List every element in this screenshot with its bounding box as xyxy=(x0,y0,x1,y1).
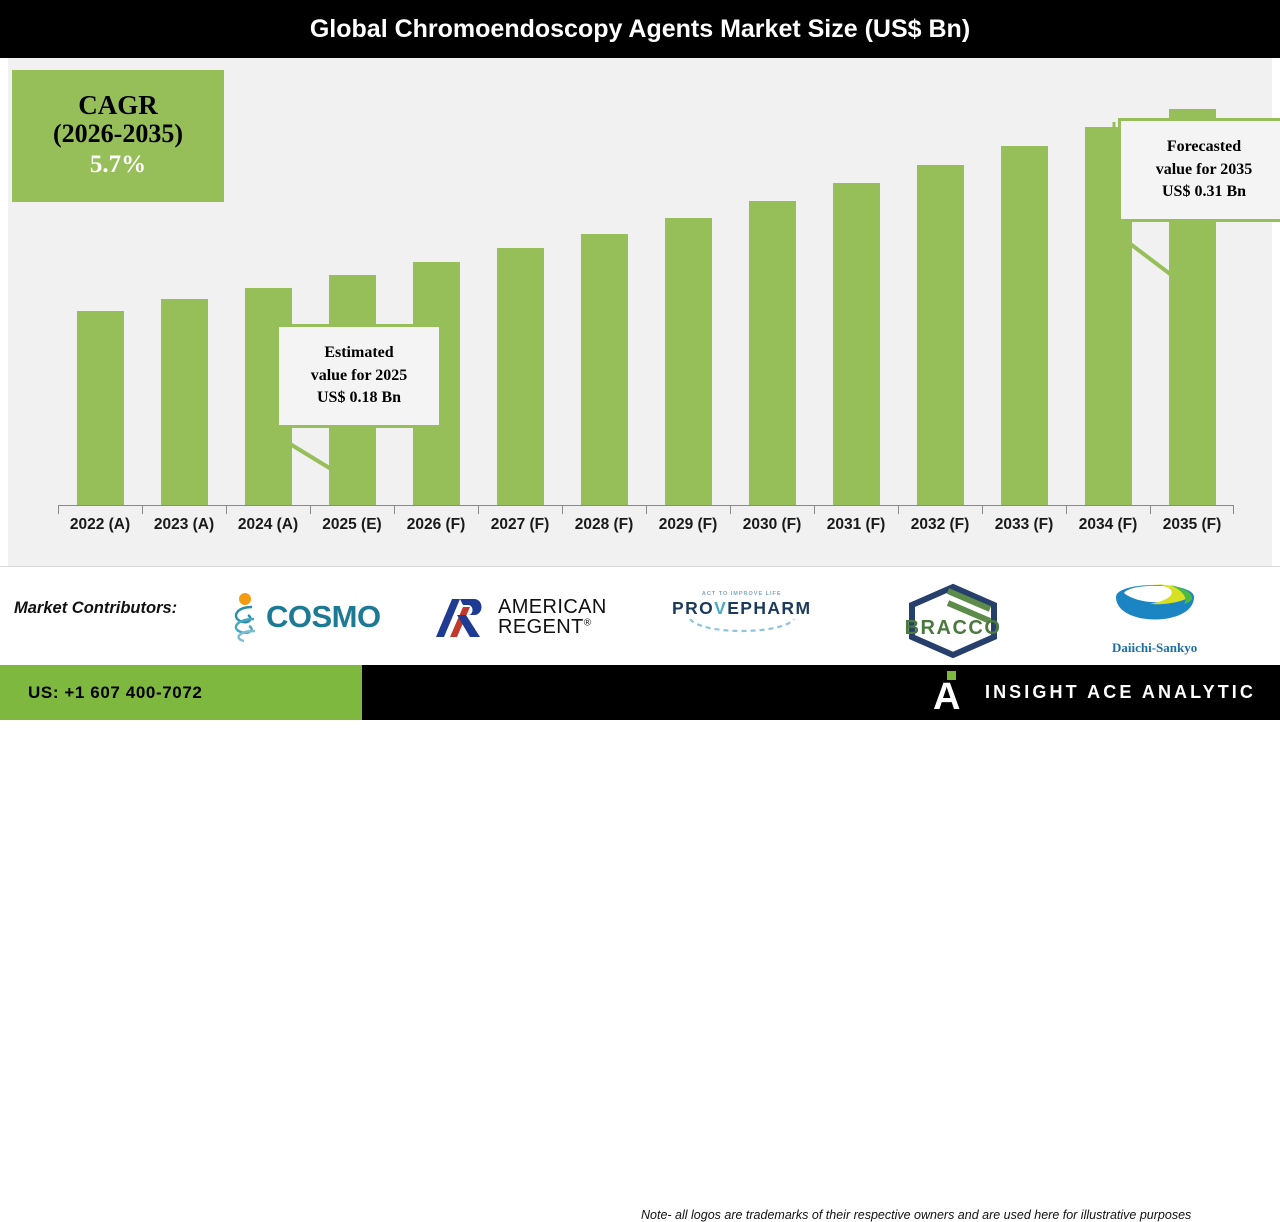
callout-line-2: value for 2025 xyxy=(311,365,408,388)
daiichi-sankyo-mark-icon xyxy=(1114,581,1196,639)
x-label-2024: 2024 (A) xyxy=(226,516,310,544)
x-label-2032: 2032 (F) xyxy=(898,516,982,544)
x-tick xyxy=(1066,505,1150,514)
x-tick xyxy=(1150,505,1234,514)
provepharm-logo: ACT TO IMPROVE LIFE PROVEPHARM xyxy=(672,591,811,635)
bar-cell xyxy=(982,58,1066,505)
bar-2032[interactable] xyxy=(917,165,964,505)
callout-line-3: US$ 0.31 Bn xyxy=(1162,181,1246,204)
x-label-2022: 2022 (A) xyxy=(58,516,142,544)
x-axis-ticks xyxy=(58,505,1234,514)
x-label-2034: 2034 (F) xyxy=(1066,516,1150,544)
x-label-2028: 2028 (F) xyxy=(562,516,646,544)
chart-panel: CAGR (2026-2035) 5.7% 2022 (A)2023 (A)20… xyxy=(8,58,1272,566)
bar-cell xyxy=(898,58,982,505)
callout-estimated-2025: Estimated value for 2025 US$ 0.18 Bn xyxy=(244,322,444,474)
bar-2029[interactable] xyxy=(665,218,712,505)
american-regent-wordmark: AMERICAN REGENT® xyxy=(498,597,607,638)
bar-cell xyxy=(646,58,730,505)
bar-cell xyxy=(730,58,814,505)
bar-2022[interactable] xyxy=(77,311,124,505)
provepharm-arc-icon xyxy=(682,619,802,635)
bracco-wordmark: BRACCO xyxy=(898,617,1008,640)
infographic-page: Global Chromoendoscopy Agents Market Siz… xyxy=(0,0,1280,720)
x-label-2025: 2025 (E) xyxy=(310,516,394,544)
brand-block: A INSIGHT ACE ANALYTIC xyxy=(933,665,1256,720)
cosmo-wordmark: COSMO xyxy=(266,599,381,635)
x-tick xyxy=(982,505,1066,514)
cosmo-mark-icon xyxy=(228,591,262,643)
plot-area: 2022 (A)2023 (A)2024 (A)2025 (E)2026 (F)… xyxy=(48,58,1248,566)
bar-cell xyxy=(142,58,226,505)
footer-phone[interactable]: US: +1 607 400-7072 xyxy=(28,683,202,703)
callout-forecasted-2035: Forecasted value for 2035 US$ 0.31 Bn xyxy=(1086,116,1280,282)
bar-2027[interactable] xyxy=(497,248,544,505)
x-axis-labels: 2022 (A)2023 (A)2024 (A)2025 (E)2026 (F)… xyxy=(58,516,1234,544)
provepharm-wordmark: PROVEPHARM xyxy=(672,598,811,619)
x-label-2031: 2031 (F) xyxy=(814,516,898,544)
callout-line-3: US$ 0.18 Bn xyxy=(317,387,401,410)
bar-cell xyxy=(562,58,646,505)
x-tick xyxy=(58,505,142,514)
cosmo-swirl-icon xyxy=(228,603,262,643)
header-bar: Global Chromoendoscopy Agents Market Siz… xyxy=(0,0,1280,58)
contributors-strip: Market Contributors: COSMO AMERICAN xyxy=(0,566,1280,666)
american-regent-mark-icon xyxy=(430,593,492,641)
x-tick xyxy=(898,505,982,514)
x-label-2026: 2026 (F) xyxy=(394,516,478,544)
x-tick xyxy=(478,505,562,514)
x-tick xyxy=(142,505,226,514)
daiichi-sankyo-logo: Daiichi-Sankyo xyxy=(1112,581,1197,656)
bar-series xyxy=(58,58,1234,505)
callout-box-2025: Estimated value for 2025 US$ 0.18 Bn xyxy=(276,324,442,428)
bar-2033[interactable] xyxy=(1001,146,1048,505)
insight-ace-logo-icon: A xyxy=(933,671,967,715)
provepharm-tagline: ACT TO IMPROVE LIFE xyxy=(702,591,782,597)
bar-cell xyxy=(58,58,142,505)
bar-2030[interactable] xyxy=(749,201,796,505)
bracco-logo: BRACCO xyxy=(898,583,1008,659)
american-regent-logo: AMERICAN REGENT® xyxy=(430,593,607,641)
daiichi-sankyo-wordmark: Daiichi-Sankyo xyxy=(1112,640,1197,656)
x-tick xyxy=(226,505,310,514)
bar-cell xyxy=(478,58,562,505)
x-label-2029: 2029 (F) xyxy=(646,516,730,544)
brand-letter: A xyxy=(933,679,960,715)
american-regent-line-2: REGENT® xyxy=(498,617,607,637)
x-label-2033: 2033 (F) xyxy=(982,516,1066,544)
callout-box-2035: Forecasted value for 2035 US$ 0.31 Bn xyxy=(1118,118,1280,222)
x-tick xyxy=(394,505,478,514)
x-tick xyxy=(730,505,814,514)
x-tick xyxy=(646,505,730,514)
x-label-2027: 2027 (F) xyxy=(478,516,562,544)
bar-2028[interactable] xyxy=(581,234,628,505)
bar-cell xyxy=(814,58,898,505)
american-regent-line-1: AMERICAN xyxy=(498,597,607,617)
callout-line-2: value for 2035 xyxy=(1156,159,1253,182)
trademark-note: Note- all logos are trademarks of their … xyxy=(641,1208,1191,1222)
x-tick xyxy=(562,505,646,514)
footer-contact-block: US: +1 607 400-7072 xyxy=(0,665,362,720)
page-title: Global Chromoendoscopy Agents Market Siz… xyxy=(310,15,970,44)
x-label-2035: 2035 (F) xyxy=(1150,516,1234,544)
callout-line-1: Forecasted xyxy=(1167,136,1241,159)
bar-2031[interactable] xyxy=(833,183,880,505)
bar-2023[interactable] xyxy=(161,299,208,505)
callout-line-1: Estimated xyxy=(324,342,393,365)
registered-mark-icon: ® xyxy=(584,617,592,628)
cosmo-logo: COSMO xyxy=(228,591,381,643)
x-tick xyxy=(814,505,898,514)
x-label-2030: 2030 (F) xyxy=(730,516,814,544)
footer-bar: US: +1 607 400-7072 A INSIGHT ACE ANALYT… xyxy=(0,665,1280,720)
x-tick xyxy=(310,505,394,514)
x-label-2023: 2023 (A) xyxy=(142,516,226,544)
brand-name: INSIGHT ACE ANALYTIC xyxy=(985,682,1256,703)
contributors-label: Market Contributors: xyxy=(14,599,177,618)
